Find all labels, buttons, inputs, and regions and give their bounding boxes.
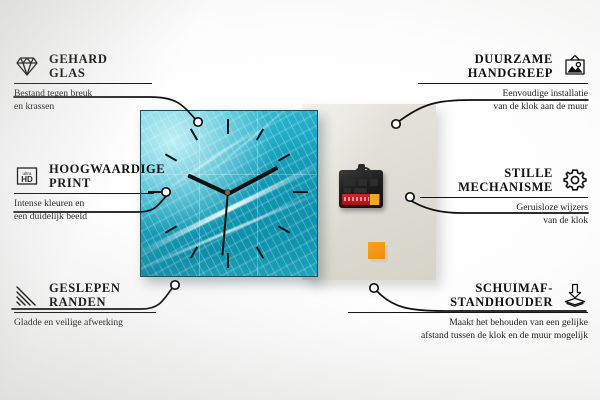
clock-center-hub — [225, 190, 230, 195]
callout-title-line1: DUURZAME — [468, 52, 553, 66]
clock-tick-6 — [227, 253, 229, 268]
battery — [342, 194, 380, 205]
wall-clock — [140, 110, 318, 277]
gear-icon — [562, 167, 588, 193]
callout-desc-line2: afstand tussen de klok en de muur mogeli… — [348, 330, 588, 342]
callout-rule — [14, 83, 152, 84]
product-photo — [126, 96, 436, 288]
callout-title-line2: HANDGREEP — [468, 66, 553, 80]
clock-movement — [339, 170, 383, 208]
movement-detail — [358, 179, 367, 186]
callout-desc-line1: Bestand tegen breuk — [14, 88, 152, 100]
callout-desc-line2: en krassen — [14, 101, 152, 113]
callout-desc-line1: Intense kleuren en — [14, 198, 154, 210]
clock-tick-12 — [227, 119, 229, 134]
callout-title-line2: PRINT — [49, 176, 165, 190]
diamond-icon — [14, 53, 40, 79]
callout-desc-line1: Eenvoudige installatie — [418, 88, 588, 100]
svg-text:HD: HD — [21, 175, 33, 184]
callout-rule — [418, 83, 588, 84]
clock-tick-3 — [293, 191, 308, 193]
movement-hanger — [355, 167, 371, 177]
beveled-edges-icon — [14, 282, 40, 308]
press-pad-icon — [562, 282, 588, 308]
callout-title-line2: GLAS — [49, 66, 107, 80]
callout-desc-line1: Gladde en veilige afwerking — [14, 317, 156, 329]
foam-spacer — [368, 242, 385, 259]
ultra-hd-icon: ultra HD — [14, 163, 40, 189]
callout-desc-line2: van de klok — [420, 215, 588, 227]
callout-schuimafstandhouder: SCHUIMAF- STANDHOUDER Maakt het behouden… — [348, 281, 588, 342]
callout-title-line1: GEHARD — [49, 52, 107, 66]
battery-label — [344, 197, 369, 201]
callout-title-line2: RANDEN — [49, 295, 121, 309]
callout-title-line1: STILLE — [458, 166, 553, 180]
callout-rule — [348, 312, 588, 313]
callout-desc-line1: Geruisloze wijzers — [420, 202, 588, 214]
callout-title-line2: MECHANISME — [458, 180, 553, 194]
callout-title-line2: STANDHOUDER — [450, 295, 553, 309]
glass-pane-line — [199, 111, 200, 276]
callout-geslepen-randen: GESLEPEN RANDEN Gladde en veilige afwerk… — [14, 281, 156, 330]
callout-title-line1: SCHUIMAF- — [450, 281, 553, 295]
callout-desc-line2: een duidelijk beeld — [14, 211, 154, 223]
callout-rule — [14, 193, 154, 194]
callout-hoogwaardige-print: ultra HD HOOGWAARDIGE PRINT Intense kleu… — [14, 162, 154, 223]
callout-title-line1: GESLEPEN — [49, 281, 121, 295]
movement-detail — [344, 188, 351, 193]
callout-desc-line1: Maakt het behouden van een gelijke — [348, 317, 588, 329]
callout-duurzame-handgreep: DUURZAME HANDGREEP Eenvoudige installati… — [418, 52, 588, 113]
movement-detail — [370, 179, 378, 186]
infographic-canvas: GEHARD GLAS Bestand tegen breuk en krass… — [0, 0, 600, 400]
hanging-picture-icon — [562, 53, 588, 79]
callout-rule — [14, 312, 156, 313]
callout-gehard-glas: GEHARD GLAS Bestand tegen breuk en krass… — [14, 52, 152, 113]
callout-title-line1: HOOGWAARDIGE — [49, 162, 165, 176]
callout-stille-mechanisme: STILLE MECHANISME Geruisloze wijzers van… — [420, 166, 588, 227]
glass-pane-line — [141, 174, 317, 175]
movement-detail — [344, 179, 355, 186]
battery-positive-terminal — [370, 194, 379, 205]
callout-desc-line2: van de klok aan de muur — [418, 101, 588, 113]
callout-rule — [420, 197, 588, 198]
movement-detail — [354, 188, 367, 193]
